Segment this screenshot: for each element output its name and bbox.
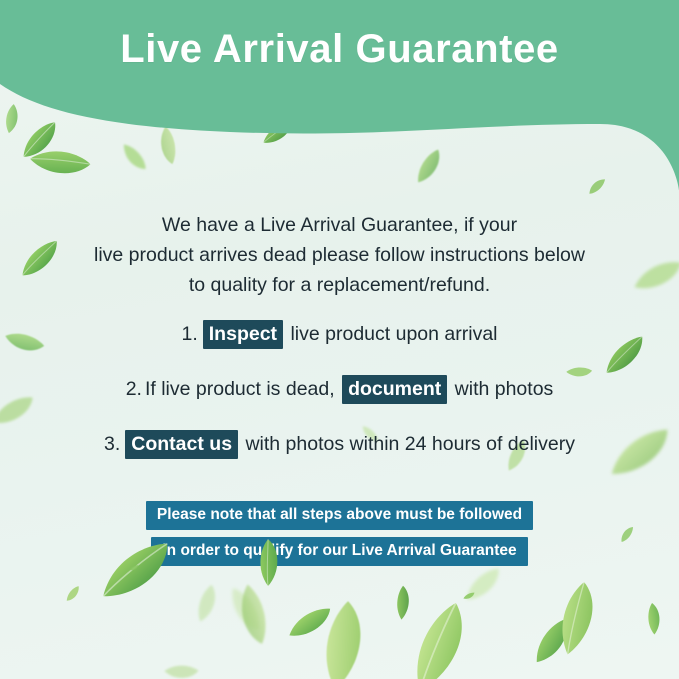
step-item-1: 1.Inspect live product upon arrival xyxy=(0,320,679,348)
step-item-3: 3.Contact us with photos within 24 hours… xyxy=(0,430,679,458)
step-number: 1. xyxy=(182,323,198,345)
steps-list: 1.Inspect live product upon arrival 2.If… xyxy=(0,320,679,485)
step-number: 2. xyxy=(126,378,142,400)
page-title: Live Arrival Guarantee xyxy=(0,27,679,72)
note-line-2: in order to qualify for our Live Arrival… xyxy=(151,537,527,566)
step-text: live product upon arrival xyxy=(285,323,497,345)
step-text-pre: If live product is dead, xyxy=(145,378,340,400)
intro-line-1: We have a Live Arrival Guarantee, if you… xyxy=(52,210,627,240)
intro-paragraph: We have a Live Arrival Guarantee, if you… xyxy=(52,210,627,300)
step-highlight-contact-us: Contact us xyxy=(125,430,238,459)
step-text: with photos xyxy=(449,378,553,400)
intro-line-2: live product arrives dead please follow … xyxy=(52,240,627,270)
step-number: 3. xyxy=(104,433,120,455)
step-highlight-document: document xyxy=(342,375,447,404)
poster-content: We have a Live Arrival Guarantee, if you… xyxy=(0,0,679,679)
note-line-1: Please note that all steps above must be… xyxy=(146,501,533,530)
intro-line-3: to quality for a replacement/refund. xyxy=(52,270,627,300)
live-arrival-guarantee-poster: Live Arrival Guarantee We have a Live Ar… xyxy=(0,0,679,679)
step-text: with photos within 24 hours of delivery xyxy=(240,433,575,455)
step-highlight-inspect: Inspect xyxy=(203,320,283,349)
note-block: Please note that all steps above must be… xyxy=(0,501,679,566)
step-item-2: 2.If live product is dead, document with… xyxy=(0,375,679,403)
